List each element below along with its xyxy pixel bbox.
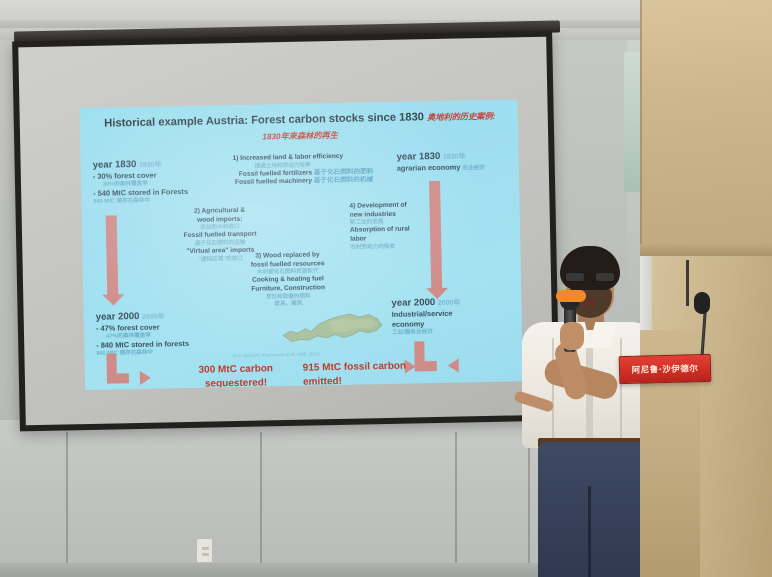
shirt-fold [552,338,554,444]
wall-seam [455,432,457,577]
power-outlet [196,538,213,563]
pants-seam [588,486,591,577]
year-label-en: year 1830 [396,151,440,163]
year-label-cn: 1830年 [443,153,466,160]
conference-room-scene: Historical example Austria: Forest carbo… [0,0,772,577]
block-step-4: 4) Development of new industries 新工业的发展 … [349,201,448,252]
glasses-icon [565,272,615,282]
wall-seam [260,432,262,577]
result-emitted-cn: 915 MtC 的化石碳排放! [303,386,421,390]
year-label-cn: 2000年 [438,300,461,307]
podium-microphone-head [694,292,710,314]
year-label-en: year 2000 [96,311,140,323]
block-year-2000-left: year 2000 2000年 - 47% forest cover 47%的森… [96,309,237,358]
block-year-1830-left: year 1830 1830年 - 30% forest cover 30%的森… [93,157,228,206]
result-emitted: 915 MtC fossil carbon emitted! 915 MtC 的… [303,359,422,390]
slide-title: Historical example Austria: Forest carbo… [102,108,499,148]
block-step-3: 3) Wood replaced by fossil fuelled resou… [228,251,347,309]
bullet-carbon-1830-cn: 540 MtC 储存在森林中 [93,196,227,206]
agrarian-economy-line: agrarian economy 农业经济 [397,162,517,175]
presenter-pants [538,442,644,577]
presenter-hair [560,246,620,290]
citation-text: (Erb, Gingrich, Krausmann et al. 2008, 2… [232,351,319,358]
year-label-en: year 1830 [93,159,137,171]
industrial-economy-line-cn: 工业/服务业经济 [392,327,516,337]
screen-surface: Historical example Austria: Forest carbo… [18,37,553,426]
speaker-nameplate: 阿尼鲁·沙伊德尔 [619,354,712,384]
presenter-hand [560,322,584,350]
shirt-fold [620,338,622,442]
projection-screen: Historical example Austria: Forest carbo… [12,31,560,432]
arrow-elbow-left [106,353,141,384]
wall-seam [66,432,68,577]
year-label-en: year 2000 [391,297,435,309]
arrow-down-left [106,215,119,295]
block-year-1830-right: year 1830 1830年 agrarian economy 农业经济 [396,149,516,174]
nameplate-text: 阿尼鲁·沙伊德尔 [631,362,698,376]
result-sequestered-cn: 300 MtC 的碳封存! [181,389,291,390]
slide-title-en: Historical example Austria: Forest carbo… [104,111,424,129]
podium-top-panel [640,0,772,250]
projected-slide: Historical example Austria: Forest carbo… [79,99,523,390]
mic-stand [686,260,689,306]
result-sequestered: 300 MtC carbon sequestered! 300 MtC 的碳封存… [181,362,292,390]
result-sequestered-en: 300 MtC carbon sequestered! [198,363,273,389]
block-step-1: 1) Increased land & labor efficiency 提高土… [232,151,413,188]
step1-sub2: Fossil fuelled machinery 基于化石燃料的机械 [235,176,413,188]
block-year-2000-right: year 2000 2000年 Industrial/service econo… [391,295,516,336]
microphone-windscreen [556,290,586,302]
result-emitted-en: 915 MtC fossil carbon emitted! [303,361,407,388]
year-label-cn: 2000年 [142,313,165,320]
year-label-cn: 1830年 [139,161,162,168]
